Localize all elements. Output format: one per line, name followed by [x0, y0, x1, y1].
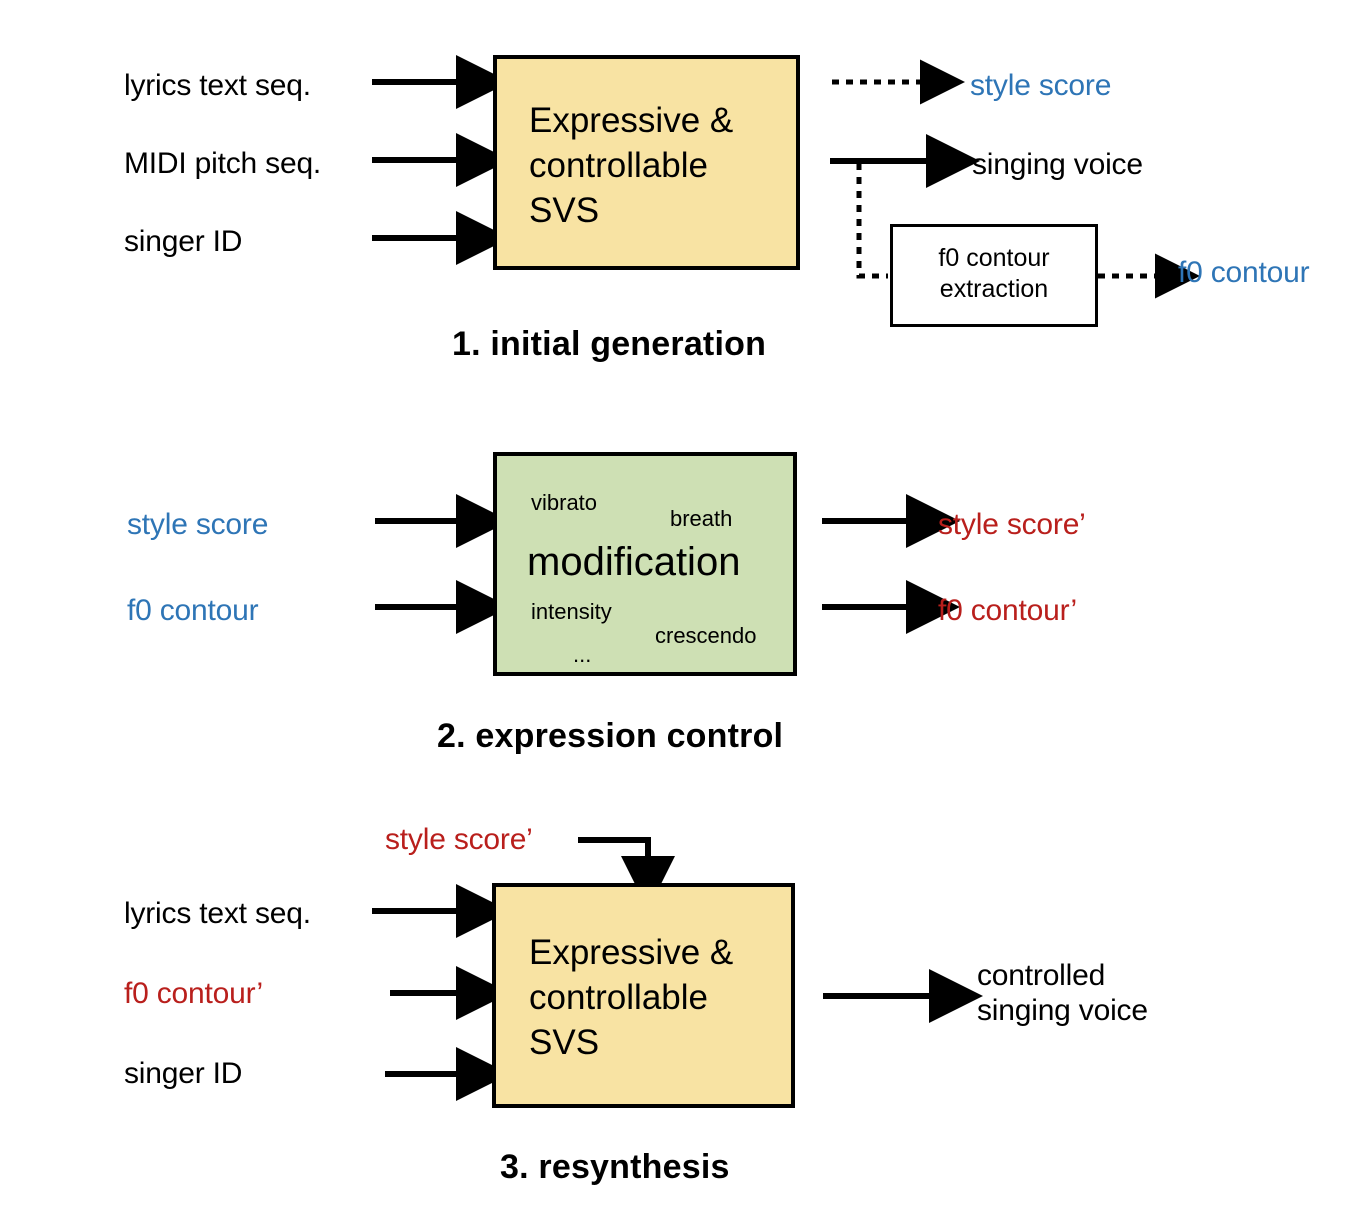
f0-contour-extraction-title: f0 contour extraction	[893, 243, 1095, 306]
stage1-svs-box-title: Expressive & controllable SVS	[529, 99, 733, 233]
stage3-svs-box[interactable]: Expressive & controllable SVS	[492, 883, 795, 1108]
stage3-top-input-arrow	[578, 840, 648, 862]
stage2-caption: 2. expression control	[437, 717, 783, 756]
stage1-input-label-midi: MIDI pitch seq.	[124, 146, 321, 181]
stage2-output-label-style-score-prime: style score’	[938, 507, 1086, 542]
stage3-input-arrows	[372, 911, 462, 1074]
stage2-output-label-f0-contour-prime: f0 contour’	[938, 593, 1077, 628]
stage3-input-label-singer-id: singer ID	[124, 1056, 242, 1091]
stage3-input-label-f0-contour-prime: f0 contour’	[124, 976, 263, 1011]
stage1-branch-to-extraction	[859, 163, 888, 276]
stage1-caption: 1. initial generation	[452, 325, 766, 364]
stage1-svs-box[interactable]: Expressive & controllable SVS	[493, 55, 800, 270]
stage1-output-label-style-score: style score	[970, 68, 1111, 103]
modification-box-title: modification	[527, 540, 740, 585]
modification-word-breath: breath	[670, 506, 732, 532]
stage2-input-label-f0-contour: f0 contour	[127, 593, 258, 628]
modification-word-intensity: intensity	[531, 599, 612, 625]
stage2-input-label-style-score: style score	[127, 507, 268, 542]
stage3-output-label-controlled-singing-voice: controlled singing voice	[977, 958, 1148, 1029]
modification-word-crescendo: crescendo	[655, 623, 757, 649]
stage3-input-label-lyrics: lyrics text seq.	[124, 896, 311, 931]
stage1-input-label-lyrics: lyrics text seq.	[124, 68, 311, 103]
stage1-output-label-singing-voice: singing voice	[972, 147, 1143, 182]
stage1-output-label-f0-contour: f0 contour	[1178, 255, 1309, 290]
stage3-caption: 3. resynthesis	[500, 1148, 730, 1187]
diagram-canvas: lyrics text seq. MIDI pitch seq. singer …	[0, 0, 1370, 1228]
stage2-modification-box[interactable]: vibrato breath modification intensity cr…	[493, 452, 797, 676]
stage3-top-input-label-style-score-prime: style score’	[385, 822, 533, 857]
stage1-input-arrows	[372, 82, 462, 238]
stage1-input-label-singer-id: singer ID	[124, 224, 242, 259]
stage3-svs-box-title: Expressive & controllable SVS	[529, 931, 733, 1065]
stage2-output-arrows	[822, 521, 912, 607]
modification-word-ellipsis: ...	[573, 642, 591, 668]
f0-contour-extraction-box[interactable]: f0 contour extraction	[890, 224, 1098, 327]
modification-word-vibrato: vibrato	[531, 490, 597, 516]
stage2-input-arrows	[375, 521, 462, 607]
